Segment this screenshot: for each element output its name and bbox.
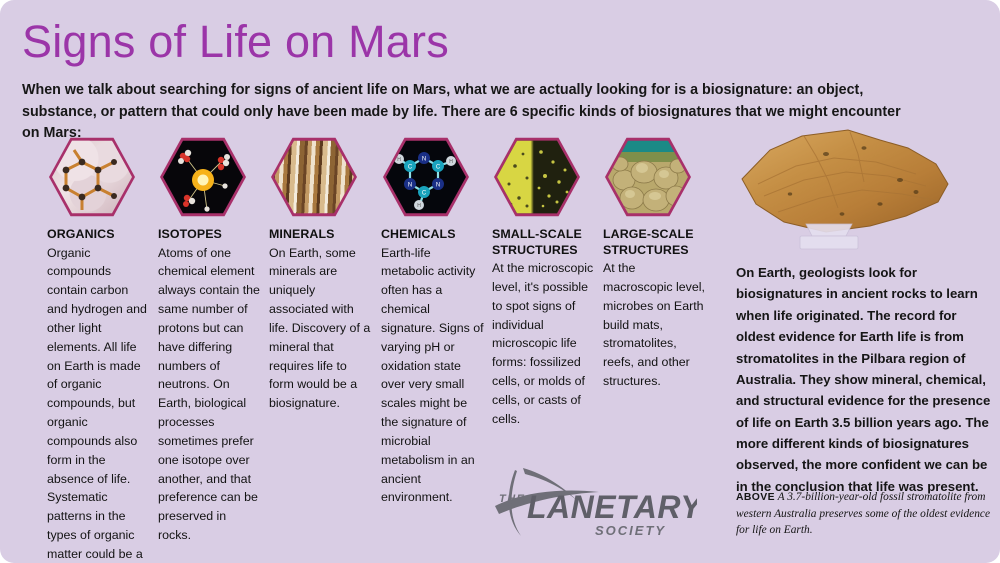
stromatolite-reef-hexagon-icon (605, 137, 691, 217)
svg-text:THE: THE (499, 493, 526, 505)
biosignature-body: Earth-life metabolic activity often has … (381, 244, 485, 508)
biosignature-column-organics: ORGANICS Organic compounds contain carbo… (47, 137, 151, 563)
svg-text:N: N (422, 157, 426, 163)
biosignature-body: At the microscopic level, it's possible … (492, 259, 596, 429)
biosignature-body: Atoms of one chemical element always con… (158, 244, 262, 546)
svg-text:N: N (408, 183, 412, 189)
svg-text:SOCIETY: SOCIETY (595, 523, 666, 538)
biosignature-column-small-scale: SMALL-SCALE STRUCTURES At the microscopi… (492, 137, 596, 429)
svg-text:H: H (397, 157, 401, 163)
svg-text:H: H (449, 159, 453, 165)
chemical-ring-hexagon-icon: CN CN CN HHH (383, 137, 469, 217)
biosignature-heading: LARGE-SCALE STRUCTURES (603, 227, 707, 258)
page-title: Signs of Life on Mars (22, 18, 449, 65)
sidebar-paragraph: On Earth, geologists look for biosignatu… (736, 262, 998, 497)
biosignature-heading: ISOTOPES (158, 227, 262, 243)
biosignature-heading: SMALL-SCALE STRUCTURES (492, 227, 596, 258)
svg-text:N: N (436, 183, 440, 189)
svg-text:C: C (408, 165, 413, 171)
caption-text: A 3.7-billion-year-old fossil stromatoli… (736, 491, 990, 536)
biosignature-body: On Earth, some minerals are uniquely ass… (269, 244, 373, 414)
biosignature-heading: MINERALS (269, 227, 373, 243)
acrylic-display-stand (790, 222, 868, 252)
biosignature-heading: CHEMICALS (381, 227, 485, 243)
biosignature-column-large-scale: LARGE-SCALE STRUCTURES At the macroscopi… (603, 137, 707, 391)
biosignature-column-minerals: MINERALS On Earth, some minerals are uni… (269, 137, 373, 413)
biosignature-body: At the macroscopic level, microbes on Ea… (603, 259, 707, 391)
biosignature-heading: ORGANICS (47, 227, 151, 243)
infographic-poster: Signs of Life on Mars When we talk about… (0, 0, 1000, 563)
banded-mineral-hexagon-icon (271, 137, 357, 217)
caption-label: ABOVE (736, 492, 775, 503)
atoms-hexagon-icon (160, 137, 246, 217)
svg-text:C: C (436, 165, 441, 171)
molecule-hexagon-icon (49, 137, 135, 217)
photo-caption: ABOVE A 3.7-billion-year-old fossil stro… (736, 489, 998, 538)
svg-text:LANETARY: LANETARY (527, 489, 697, 525)
svg-text:H: H (417, 203, 421, 209)
svg-text:C: C (422, 191, 427, 197)
biosignature-column-chemicals: CN CN CN HHH CHEMICALS Earth-life metabo… (381, 137, 485, 507)
microscopic-texture-hexagon-icon (494, 137, 580, 217)
biosignature-body: Organic compounds contain carbon and hyd… (47, 244, 151, 563)
biosignature-column-isotopes: ISOTOPES Atoms of one chemical element a… (158, 137, 262, 545)
planetary-society-logo[interactable]: THE LANETARY SOCIETY (487, 462, 697, 540)
